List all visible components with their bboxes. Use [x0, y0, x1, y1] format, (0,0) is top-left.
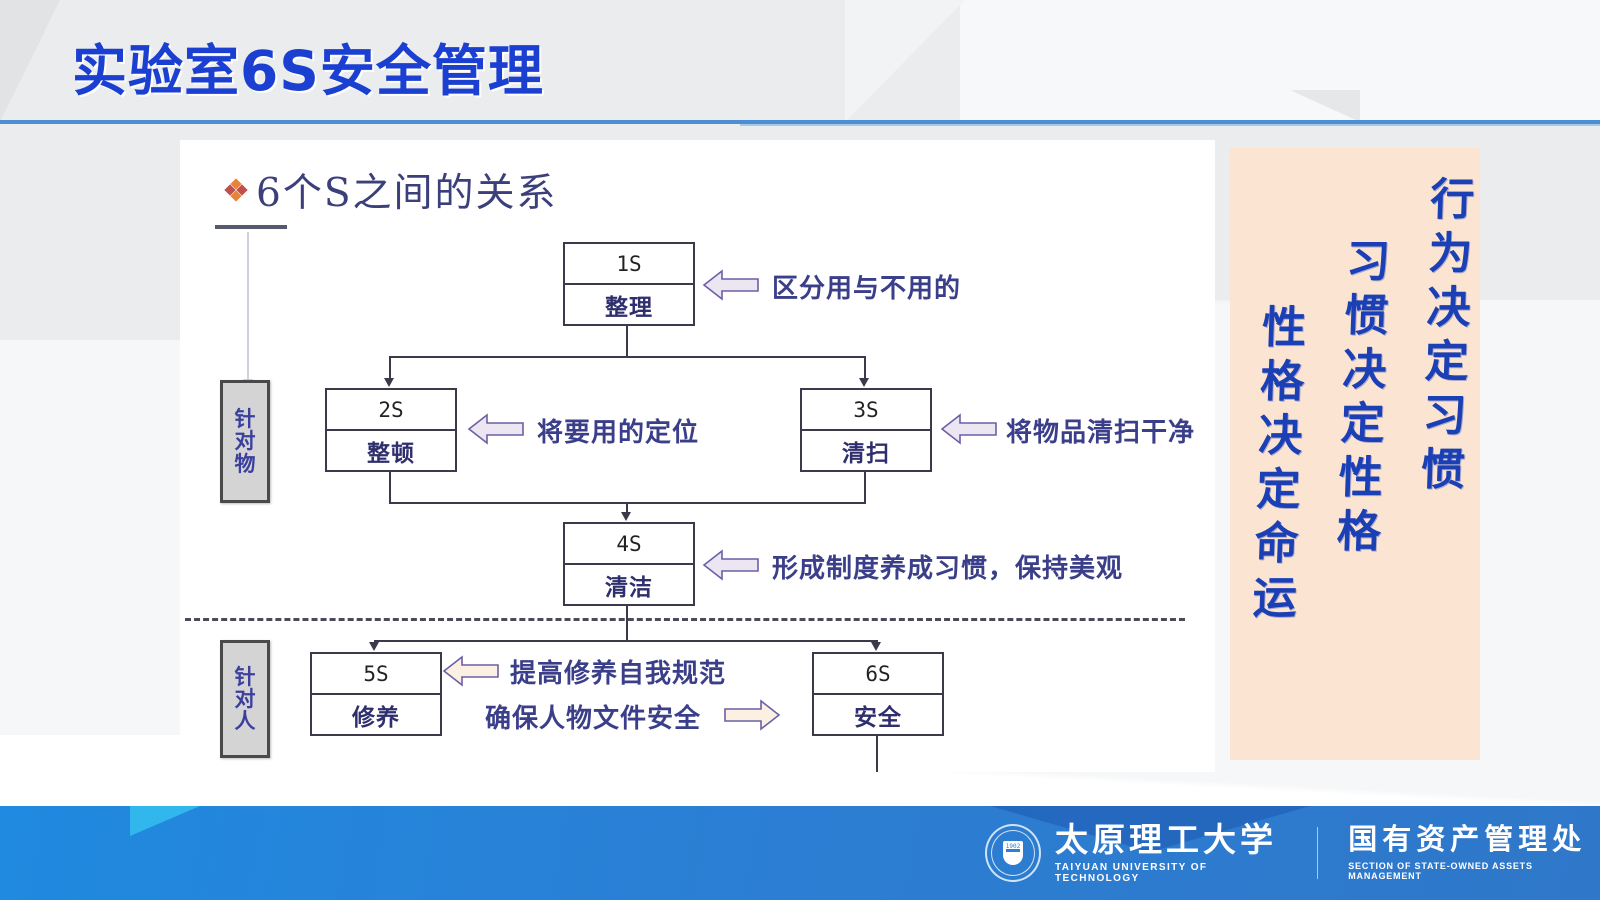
bg-shape-notch	[1290, 90, 1360, 122]
flow-node-4s[interactable]: 4S 清洁	[563, 522, 695, 606]
university-emblem-icon: 1902	[985, 824, 1041, 882]
flow-node-2s[interactable]: 2S 整顿	[325, 388, 457, 472]
annotation-6s: 确保人物文件安全	[485, 698, 701, 735]
node-code: 2S	[327, 390, 455, 431]
annotation-arrow-left-icon	[442, 654, 500, 688]
chip-char: 针	[235, 666, 256, 688]
node-code: 4S	[565, 524, 693, 565]
edge-3s-down	[864, 470, 866, 502]
page-title: 实验室6S安全管理	[72, 26, 544, 106]
node-label: 安全	[814, 695, 942, 734]
annotation-arrow-right-icon	[723, 698, 781, 732]
annotation-2s: 将要用的定位	[537, 412, 699, 449]
department-name-cn: 国有资产管理处	[1348, 825, 1600, 854]
annotation-arrow-left-icon	[702, 268, 760, 302]
bg-shape-corner	[0, 0, 60, 122]
flow-entry-arrow-icon	[247, 232, 249, 380]
section-heading-label: 6个S之间的关系	[256, 162, 558, 218]
annotation-arrow-left-icon	[940, 412, 998, 446]
node-code: 5S	[312, 654, 440, 695]
flow-node-6s[interactable]: 6S 安全	[812, 652, 944, 736]
edge-bus-left-drop	[389, 356, 391, 378]
content-card: 6个S之间的关系 针 对 物 针 对 人	[180, 140, 1215, 772]
annotation-3s: 将物品清扫干净	[1006, 412, 1195, 449]
category-chip-people: 针 对 人	[220, 640, 270, 758]
edge-bus-bottom	[374, 640, 876, 642]
annotation-1s: 区分用与不用的	[772, 268, 961, 305]
bg-shape-wedge	[845, 0, 965, 122]
chip-char: 物	[235, 453, 256, 475]
department-name-block: 国有资产管理处 SECTION OF STATE-OWNED ASSETS MA…	[1348, 825, 1600, 881]
footer-branding: 1902 太原理工大学 TAIYUAN UNIVERSITY OF TECHNO…	[985, 806, 1600, 900]
university-name-en: TAIYUAN UNIVERSITY OF TECHNOLOGY	[1055, 862, 1287, 884]
bg-shape-top-right	[960, 0, 1600, 122]
heading-underline	[215, 225, 287, 229]
flow-node-3s[interactable]: 3S 清扫	[800, 388, 932, 472]
annotation-4s: 形成制度养成习惯，保持美观	[772, 548, 1123, 585]
node-code: 6S	[814, 654, 942, 695]
department-name-en: SECTION OF STATE-OWNED ASSETS MANAGEMENT	[1348, 861, 1600, 881]
dashed-separator	[185, 618, 1185, 621]
edge-arrow-to-6s	[871, 642, 881, 651]
calligraphy-column-3: 性格决定命运	[1232, 304, 1312, 760]
node-code: 1S	[565, 244, 693, 285]
node-label: 清洁	[565, 565, 693, 604]
node-label: 整理	[565, 285, 693, 324]
edge-arrow-to-3s	[859, 378, 869, 387]
calligraphy-column-1: 行为决定习惯	[1396, 176, 1480, 760]
edge-6s-down	[876, 732, 878, 772]
section-heading: 6个S之间的关系	[226, 162, 558, 218]
university-name-cn: 太原理工大学	[1055, 823, 1287, 856]
edge-bus-mid-drop	[626, 502, 628, 512]
edge-arrow-to-2s	[384, 378, 394, 387]
annotation-5s: 提高修养自我规范	[510, 653, 726, 690]
annotation-arrow-left-icon	[702, 548, 760, 582]
annotation-arrow-left-icon	[467, 412, 525, 446]
edge-2s-down	[389, 470, 391, 502]
edge-arrow-to-4s	[621, 512, 631, 521]
chip-char: 针	[235, 408, 256, 430]
chip-char: 人	[235, 710, 256, 732]
diamond-bullet-icon	[226, 180, 246, 200]
node-code: 3S	[802, 390, 930, 431]
node-label: 修养	[312, 695, 440, 734]
edge-bus-top	[389, 356, 864, 358]
chip-char: 对	[235, 688, 256, 710]
calligraphy-column-2: 习惯决定性格	[1314, 238, 1396, 760]
edge-4s-down	[626, 604, 628, 640]
chip-char: 对	[235, 430, 256, 452]
category-chip-things: 针 对 物	[220, 380, 270, 503]
edge-bus-right-drop	[864, 356, 866, 378]
slide-canvas: 实验室6S安全管理 6个S之间的关系 针 对 物 针 对 人	[0, 0, 1600, 900]
flow-node-1s[interactable]: 1S 整理	[563, 242, 695, 326]
node-label: 清扫	[802, 431, 930, 470]
header-rule-secondary	[740, 124, 1600, 126]
edge-arrow-to-5s	[369, 642, 379, 651]
flow-node-5s[interactable]: 5S 修养	[310, 652, 442, 736]
emblem-year: 1902	[1006, 843, 1020, 850]
footer-divider	[1317, 827, 1318, 879]
calligraphy-panel: 行为决定习惯 习惯决定性格 性格决定命运	[1230, 148, 1480, 760]
node-label: 整顿	[327, 431, 455, 470]
university-name-block: 太原理工大学 TAIYUAN UNIVERSITY OF TECHNOLOGY	[1055, 823, 1287, 884]
